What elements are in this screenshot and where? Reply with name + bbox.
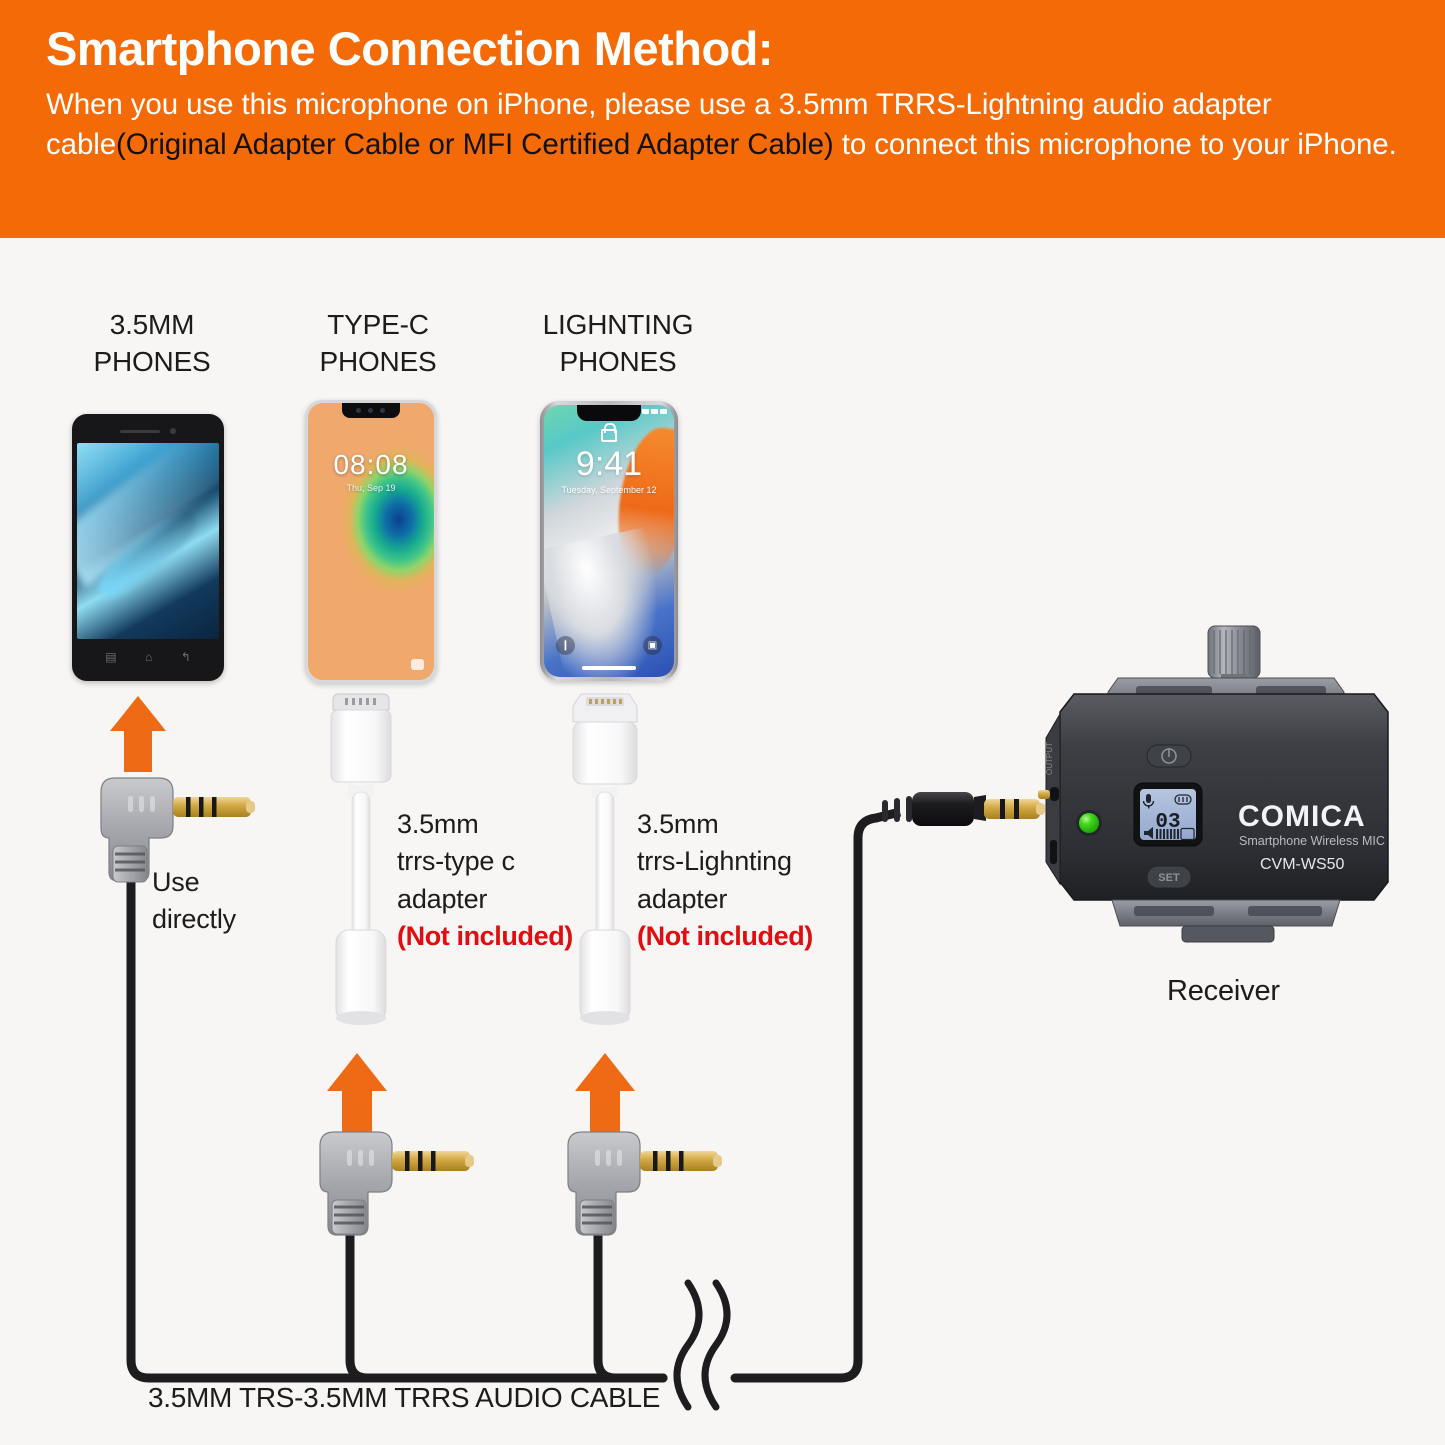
receiver-model: CVM-WS50 xyxy=(1260,856,1345,873)
receiver-tagline: Smartphone Wireless MIC xyxy=(1239,834,1385,848)
svg-text:SET: SET xyxy=(1158,872,1180,884)
lcd-screen xyxy=(1140,789,1196,840)
huawei-lockscreen-time: 08:08 xyxy=(308,449,434,481)
android-screen xyxy=(77,443,219,639)
speaker-icon xyxy=(1144,827,1153,839)
battery-icon xyxy=(660,409,667,414)
iphone-screen: 9:41 Tuesday, September 12 ❙ ▣ xyxy=(544,405,674,677)
notch xyxy=(577,405,641,421)
header-description: When you use this microphone on iPhone, … xyxy=(46,85,1399,164)
receiver-brand: COMICA xyxy=(1238,800,1366,833)
status-led xyxy=(1079,813,1099,833)
product-diagram-page: Smartphone Connection Method: When you u… xyxy=(0,0,1445,1445)
column-heading-35mm-phones: 3.5MM PHONES xyxy=(62,306,242,380)
typec-not-included-badge: (Not included) xyxy=(397,921,573,951)
column-heading-typec-phones: TYPE-C PHONES xyxy=(290,306,466,380)
camera-icon: ▣ xyxy=(643,636,662,655)
lcd-channel-value: 03 xyxy=(1155,811,1180,834)
svg-text:OUTPUT: OUTPUT xyxy=(1045,742,1054,775)
power-button xyxy=(1147,745,1191,767)
android-phone-image: ▤ ⌂ ↰ xyxy=(72,414,224,681)
header-description-part2: to connect this microphone to your iPhon… xyxy=(834,128,1397,161)
page-title: Smartphone Connection Method: xyxy=(46,24,1399,73)
huawei-screen: 08:08 Thu, Sep 19 xyxy=(308,403,434,680)
front-camera-icon xyxy=(170,428,176,434)
recents-icon: ▤ xyxy=(105,651,116,663)
arrow-up-to-android-phone xyxy=(110,696,166,772)
camera-shortcut-icon xyxy=(411,659,424,670)
android-earpiece-area xyxy=(77,419,219,443)
home-indicator xyxy=(582,666,636,670)
lightning-adapter-label: 3.5mm trrs-Lighnting adapter xyxy=(637,809,792,914)
iphone-lockscreen-time: 9:41 xyxy=(544,445,674,484)
usb-port xyxy=(1050,840,1057,864)
status-bar-icons xyxy=(642,409,667,414)
flashlight-icon: ❙ xyxy=(556,636,575,655)
column-heading-lightning-phones: LIGHNTING PHONES xyxy=(513,306,723,380)
cable-middle-branch xyxy=(350,1230,663,1378)
trrs-plug-typec-branch xyxy=(320,1132,474,1235)
cable-break-symbol xyxy=(677,1283,727,1407)
wireless-signal-icon xyxy=(1175,795,1191,804)
cellular-icon xyxy=(642,409,649,414)
notch xyxy=(342,403,400,418)
typec-to-35mm-adapter xyxy=(331,694,391,1025)
set-button xyxy=(1147,866,1191,888)
typec-phone-image: 08:08 Thu, Sep 19 xyxy=(305,400,437,683)
android-navigation-bar: ▤ ⌂ ↰ xyxy=(77,639,219,675)
earpiece-speaker-icon xyxy=(120,430,160,433)
receiver-device: OUTPUT SET xyxy=(1038,626,1388,942)
arrow-up-to-typec-adapter xyxy=(327,1053,387,1133)
trrs-plug-lightning-branch xyxy=(568,1132,722,1235)
lightning-not-included-badge: (Not included) xyxy=(637,921,813,951)
receiver-label: Receiver xyxy=(1167,975,1280,1008)
typec-adapter-annotation: 3.5mm trrs-type c adapter(Not included) xyxy=(397,806,573,955)
iphone-image: 9:41 Tuesday, September 12 ❙ ▣ xyxy=(540,401,678,681)
home-icon: ⌂ xyxy=(145,651,152,663)
lightning-to-35mm-adapter xyxy=(573,694,637,1025)
back-icon: ↰ xyxy=(181,651,191,663)
lcd-volume-bars xyxy=(1156,829,1179,839)
typec-adapter-label: 3.5mm trrs-type c adapter xyxy=(397,809,515,914)
iphone-lockscreen-date: Tuesday, September 12 xyxy=(544,485,674,495)
header-banner: Smartphone Connection Method: When you u… xyxy=(0,0,1445,238)
black-35mm-plug xyxy=(876,792,1045,826)
audio-cable-label: 3.5MM TRS-3.5MM TRRS AUDIO CABLE xyxy=(148,1382,660,1414)
wifi-icon xyxy=(651,409,658,414)
arrow-up-to-lightning-adapter xyxy=(575,1053,635,1133)
use-directly-label: Use directly xyxy=(152,864,236,939)
microphone-icon xyxy=(1144,794,1154,809)
unlocked-padlock-icon xyxy=(601,429,617,442)
lightning-adapter-annotation: 3.5mm trrs-Lighnting adapter(Not include… xyxy=(637,806,813,955)
huawei-lockscreen-date: Thu, Sep 19 xyxy=(308,483,434,493)
header-description-highlight: (Original Adapter Cable or MFI Certified… xyxy=(116,128,834,161)
cable-lightning-branch xyxy=(598,1230,663,1378)
output-jack xyxy=(1050,787,1059,801)
